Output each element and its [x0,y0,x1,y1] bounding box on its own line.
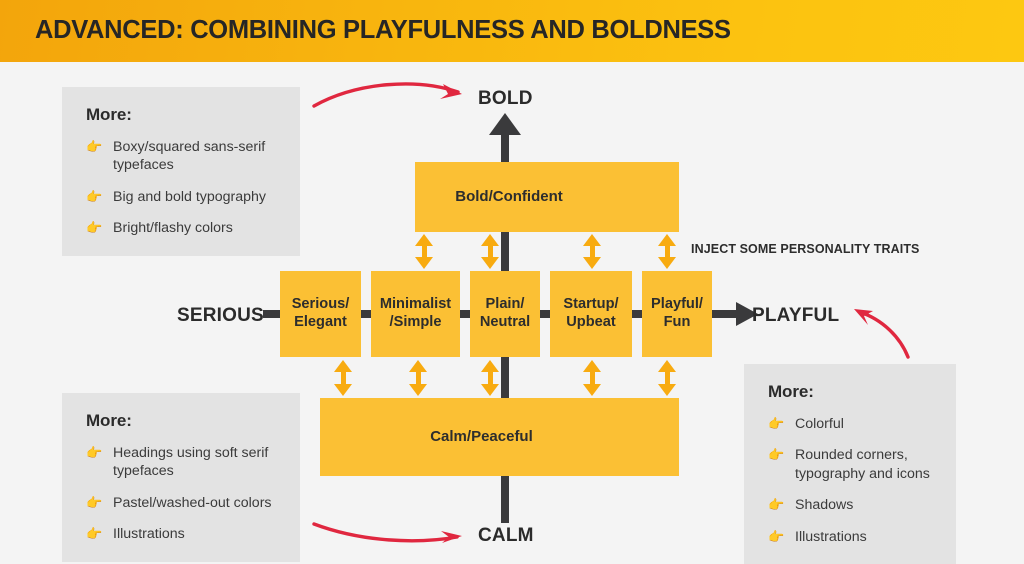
list-item: 👉 Rounded corners, typography and icons [768,446,934,483]
list-item-label: Shadows [795,496,934,514]
connector-arrow-top-playful [658,234,677,269]
red-annotation-arrow-playful [848,305,916,361]
panel-bold-title: More: [86,105,278,125]
pointing-right-hand-icon: 👉 [86,220,106,237]
connector-arrow-bottom-serious [334,360,353,396]
axis-label-playful: PLAYFUL [752,305,839,327]
page-title-prefix: ADVANCED: COMBINING [35,16,343,44]
connector-arrow-bottom-plain [481,360,500,396]
axis-label-calm: CALM [478,525,534,547]
panel-bold-traits: More: 👉 Boxy/squared sans-serif typeface… [62,87,300,256]
arrow-down-icon [481,384,499,396]
panel-calm-title: More: [86,411,278,431]
list-item-label: Rounded corners, typography and icons [795,446,934,483]
list-item: 👉 Colorful [768,415,934,433]
panel-calm-traits: More: 👉 Headings using soft serif typefa… [62,393,300,562]
connector-arrow-bottom-startup [583,360,602,396]
axis-label-serious: SERIOUS [177,305,264,327]
box-calm-peaceful[interactable]: Calm/Peaceful [320,398,679,476]
list-item-label: Illustrations [795,528,934,546]
box-serious-elegant[interactable]: Serious/Elegant [280,271,361,357]
list-item-label: Big and bold typography [113,188,278,206]
pointing-right-hand-icon: 👉 [86,189,106,206]
panel-calm-list: 👉 Headings using soft serif typefaces 👉 … [86,444,278,544]
arrow-down-icon [583,384,601,396]
panel-playful-traits: More: 👉 Colorful 👉 Rounded corners, typo… [744,364,956,564]
box-plain-neutral[interactable]: Plain/Neutral [470,271,540,357]
arrow-down-icon [658,384,676,396]
box-calm-peaceful-label: Calm/Peaceful [430,428,533,446]
list-item-label: Headings using soft serif typefaces [113,444,278,481]
inject-personality-note: INJECT SOME PERSONALITY TRAITS [691,242,920,256]
list-item: 👉 Illustrations [768,528,934,546]
list-item-label: Bright/flashy colors [113,219,278,237]
arrow-down-icon [481,257,499,269]
list-item: 👉 Shadows [768,496,934,514]
page-title-boldness: BOLDNESS [591,16,730,44]
list-item-label: Boxy/squared sans-serif typefaces [113,138,278,175]
pointing-right-hand-icon: 👉 [86,445,106,462]
pointing-right-hand-icon: 👉 [768,497,788,514]
connector-arrow-top-minimalist [415,234,434,269]
list-item: 👉 Pastel/washed-out colors [86,494,278,512]
list-item: 👉 Boxy/squared sans-serif typefaces [86,138,278,175]
list-item-label: Illustrations [113,525,278,543]
page-title-conjunction: AND [524,16,591,44]
pointing-right-hand-icon: 👉 [768,447,788,464]
box-startup-upbeat[interactable]: Startup/Upbeat [550,271,632,357]
connector-arrow-top-plain [481,234,500,269]
red-annotation-arrow-calm [312,518,472,548]
list-item-label: Colorful [795,415,934,433]
box-bold-confident-label: Bold/Confident [455,188,562,206]
connector-arrow-bottom-playful [658,360,677,396]
red-annotation-arrow-bold [312,80,472,114]
list-item: 👉 Illustrations [86,525,278,543]
pointing-right-hand-icon: 👉 [86,139,106,156]
box-serious-elegant-label: Serious/Elegant [292,296,350,332]
box-minimalist-simple-label: Minimalist/Simple [380,296,451,332]
box-startup-upbeat-label: Startup/Upbeat [563,296,618,332]
connector-arrow-bottom-minimalist [409,360,428,396]
panel-bold-list: 👉 Boxy/squared sans-serif typefaces 👉 Bi… [86,138,278,238]
axis-label-bold: BOLD [478,88,533,110]
list-item: 👉 Bright/flashy colors [86,219,278,237]
page-title: ADVANCED: COMBINING PLAYFULNESS AND BOLD… [35,16,731,45]
panel-playful-title: More: [768,382,934,402]
box-playful-fun[interactable]: Playful/Fun [642,271,712,357]
arrow-down-icon [409,384,427,396]
box-playful-fun-label: Playful/Fun [651,296,703,332]
pointing-right-hand-icon: 👉 [86,526,106,543]
pointing-right-hand-icon: 👉 [768,529,788,546]
list-item-label: Pastel/washed-out colors [113,494,278,512]
arrow-down-icon [334,384,352,396]
list-item: 👉 Headings using soft serif typefaces [86,444,278,481]
arrow-down-icon [415,257,433,269]
panel-playful-list: 👉 Colorful 👉 Rounded corners, typography… [768,415,934,546]
list-item: 👉 Big and bold typography [86,188,278,206]
box-bold-confident[interactable]: Bold/Confident [415,162,679,232]
pointing-right-hand-icon: 👉 [768,416,788,433]
connector-arrow-top-startup [583,234,602,269]
pointing-right-hand-icon: 👉 [86,495,106,512]
box-minimalist-simple[interactable]: Minimalist/Simple [371,271,460,357]
arrow-down-icon [658,257,676,269]
page-header: ADVANCED: COMBINING PLAYFULNESS AND BOLD… [0,0,1024,62]
arrow-down-icon [583,257,601,269]
box-plain-neutral-label: Plain/Neutral [480,296,530,332]
page-title-playfulness: PLAYFULNESS [343,16,524,44]
